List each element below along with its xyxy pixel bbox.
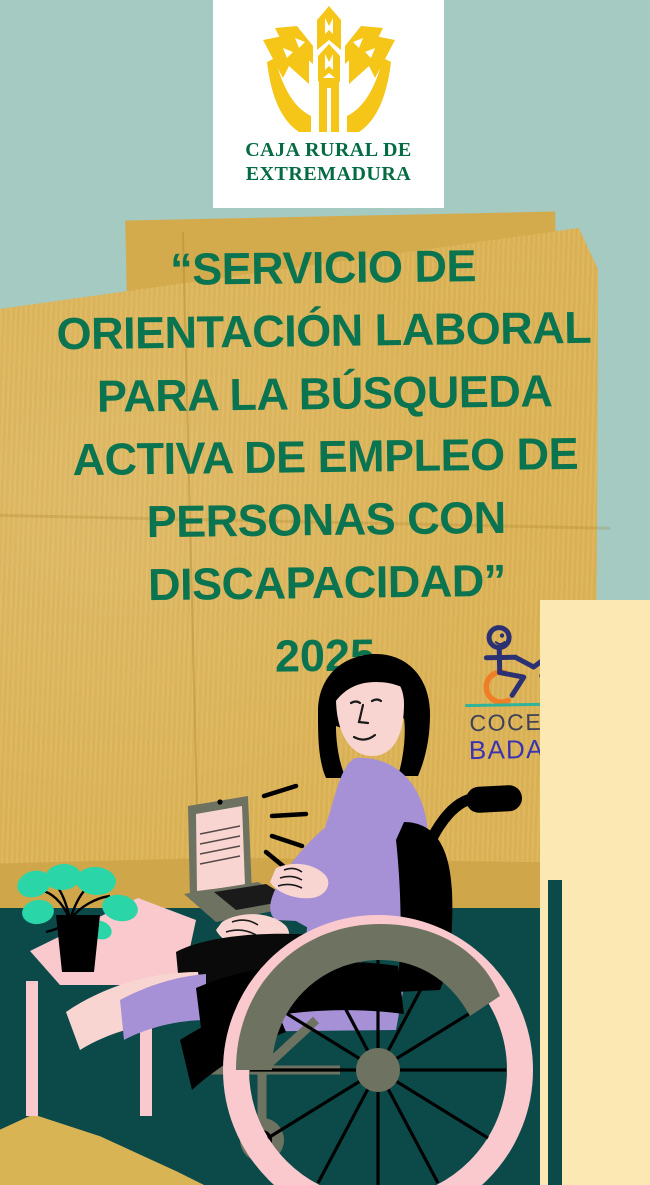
illustration-woman-wheelchair-laptop [0,600,650,1185]
caja-rural-line2: EXTREMADURA [213,163,444,186]
poster-canvas: CAJA RURAL DE EXTREMADURA “SERVICIO DE O… [0,0,650,1185]
wheat-icon [239,4,419,136]
caja-rural-logo: CAJA RURAL DE EXTREMADURA [213,0,444,208]
caja-rural-line1: CAJA RURAL DE [213,139,444,162]
poster-headline: “SERVICIO DE ORIENTACIÓN LABORAL PARA LA… [20,232,631,617]
